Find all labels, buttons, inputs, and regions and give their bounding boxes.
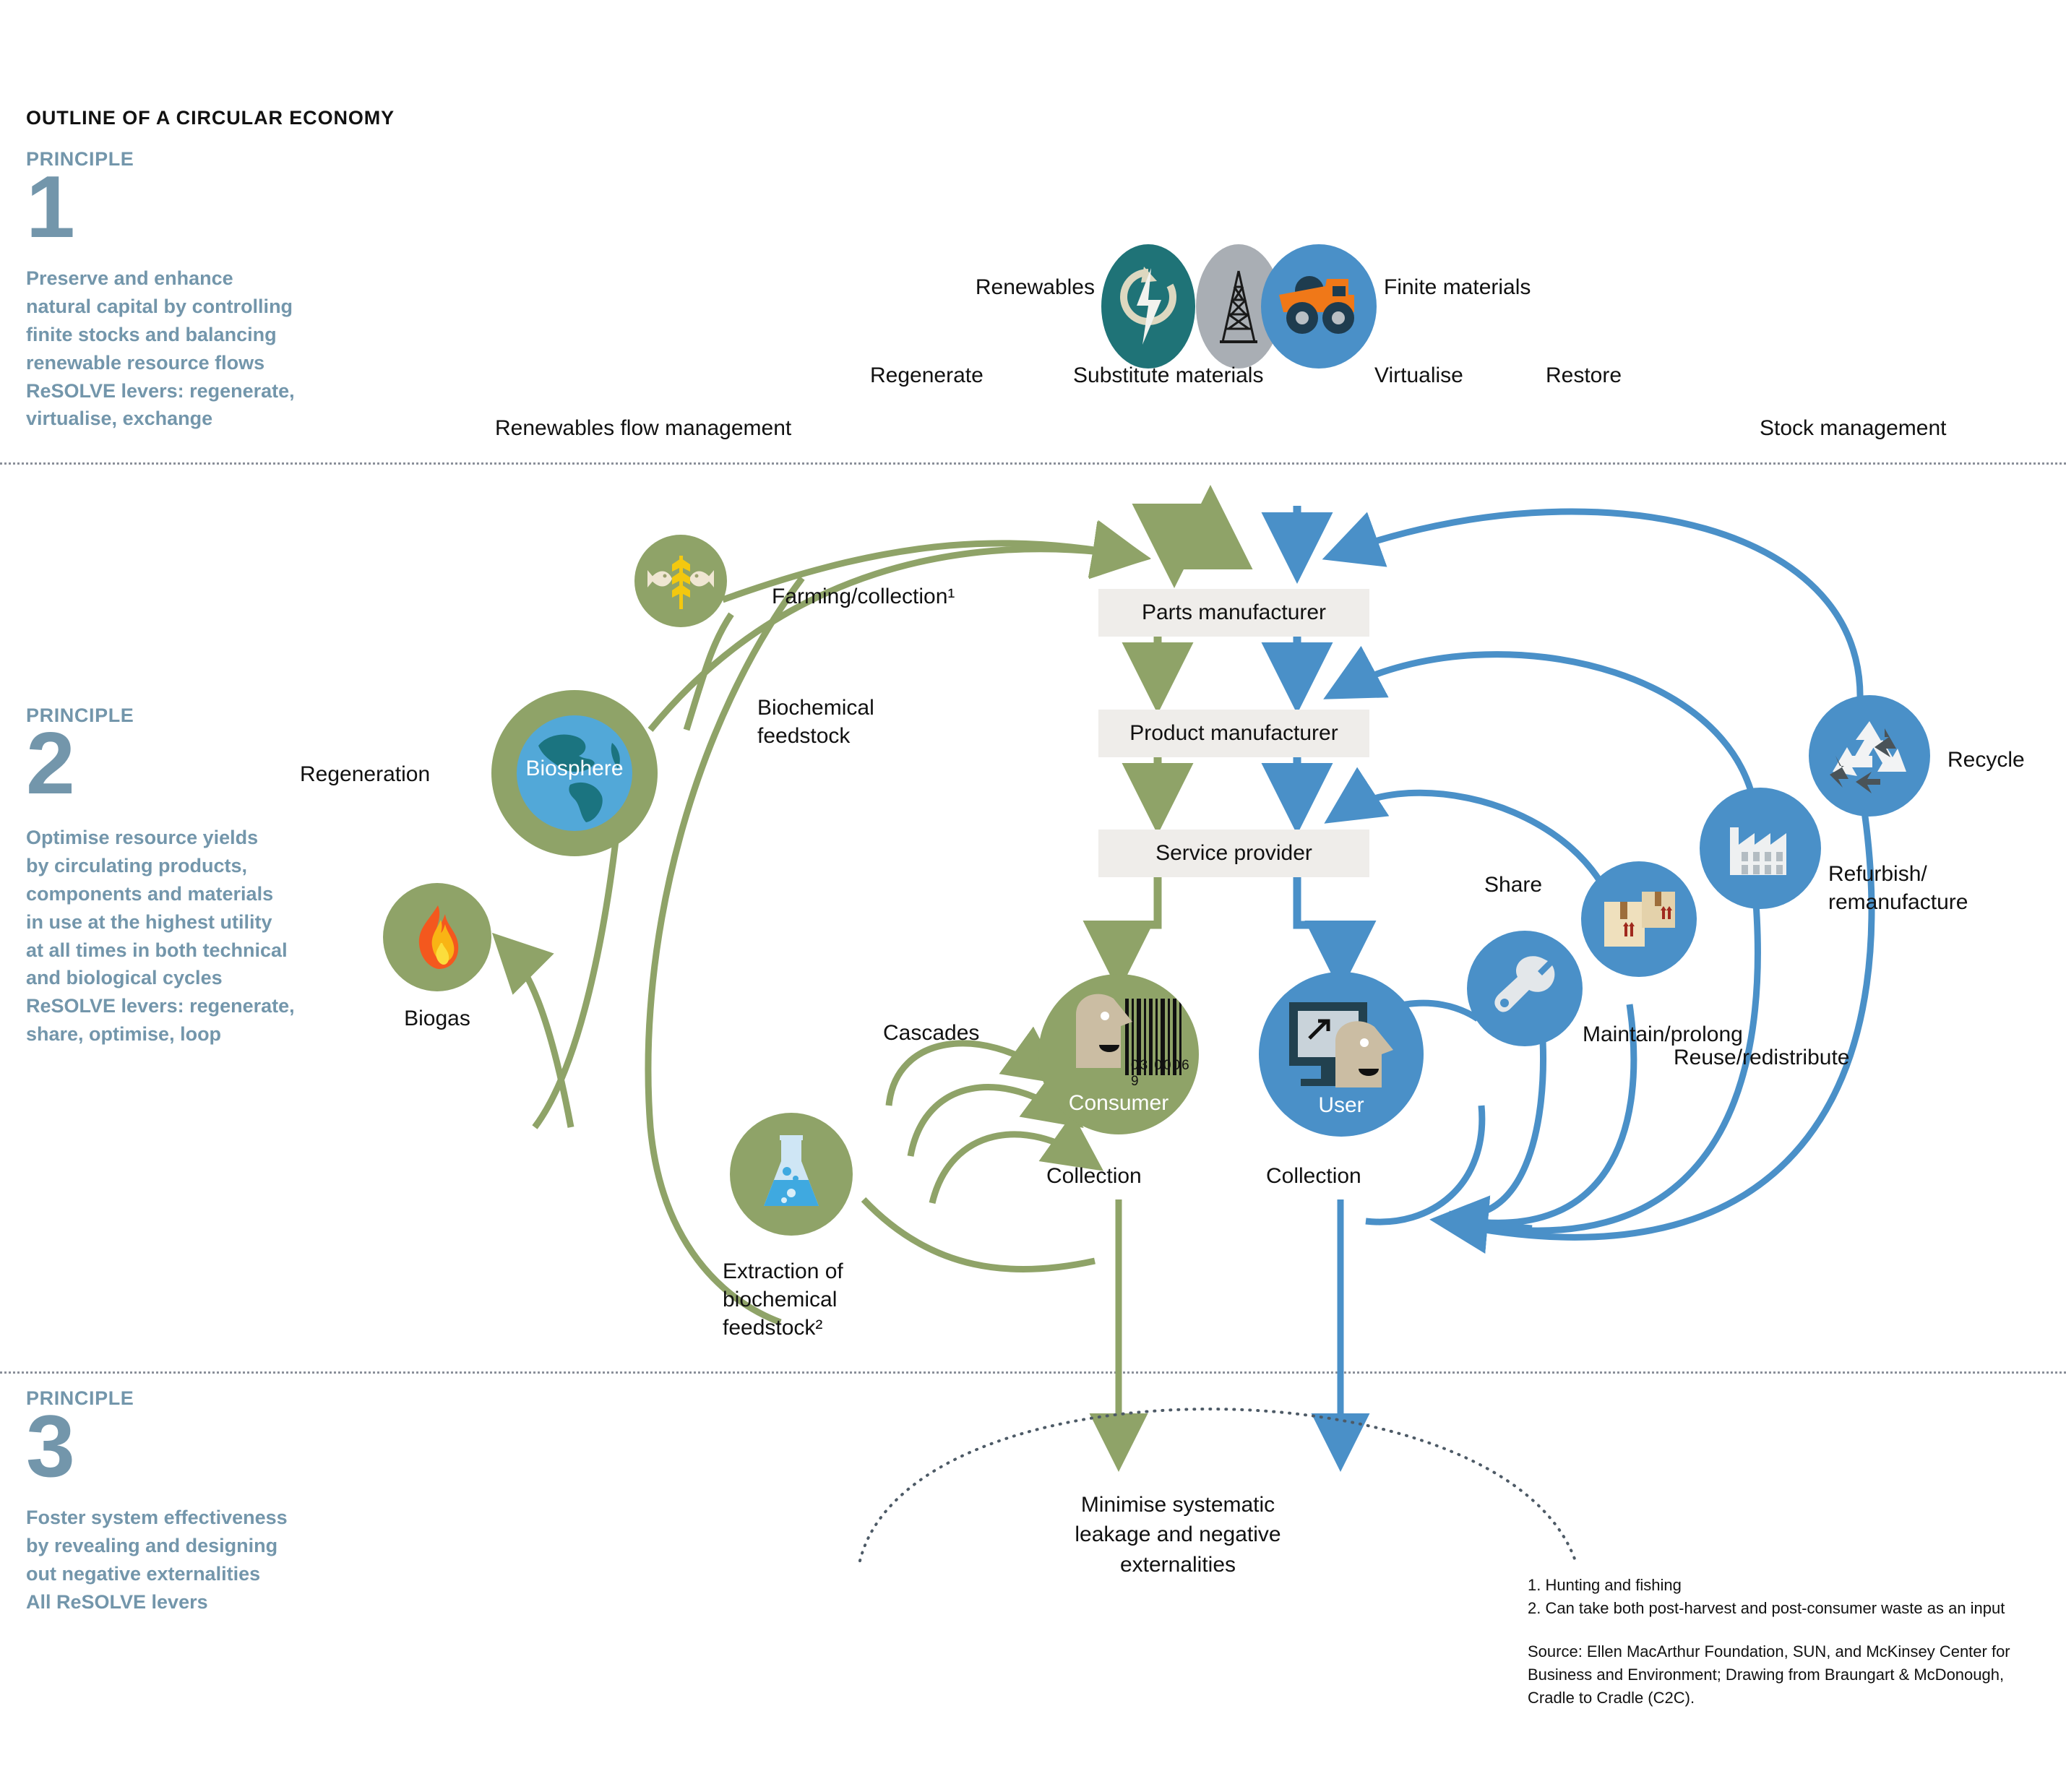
user-label: User — [1259, 1093, 1424, 1118]
box-parts-manufacturer-label: Parts manufacturer — [1142, 600, 1326, 625]
box-product-manufacturer-label: Product manufacturer — [1129, 721, 1338, 746]
footnotes: 1. Hunting and fishing 2. Can take both … — [1528, 1574, 2033, 1620]
refurbish-remanufacture-label: Refurbish/ remanufacture — [1828, 860, 1968, 916]
biosphere-caption: Biosphere — [491, 757, 658, 781]
box-service-provider[interactable]: Service provider — [1098, 830, 1369, 877]
share-wrench-icon[interactable] — [1467, 931, 1583, 1046]
biochemical-feedstock-label: Biochemical feedstock — [757, 694, 874, 750]
share-label: Share — [1484, 871, 1542, 899]
recycle-label: Recycle — [1947, 746, 2025, 774]
biogas-label: Biogas — [383, 1004, 491, 1033]
biogas-icon[interactable] — [383, 883, 491, 991]
consumer-label: Consumer — [1038, 1091, 1199, 1116]
consumer-node[interactable]: 03 0006 9 Consumer — [1038, 974, 1199, 1134]
consumer-collection-label: Collection — [1046, 1162, 1142, 1190]
farming-collection-icon[interactable] — [634, 535, 727, 627]
recycle-icon[interactable] — [1809, 695, 1930, 817]
box-service-provider-label: Service provider — [1155, 841, 1312, 866]
source-note: Source: Ellen MacArthur Foundation, SUN,… — [1528, 1640, 2062, 1710]
maintain-prolong-label: Maintain/prolong — [1583, 1020, 1743, 1048]
cascades-label: Cascades — [883, 1019, 979, 1047]
reuse-redistribute-icon[interactable] — [1581, 861, 1697, 977]
regeneration-label: Regeneration — [300, 760, 430, 788]
user-collection-label: Collection — [1266, 1162, 1361, 1190]
farming-collection-label: Farming/collection¹ — [772, 582, 955, 611]
box-parts-manufacturer[interactable]: Parts manufacturer — [1098, 589, 1369, 637]
user-node[interactable]: User — [1259, 972, 1424, 1137]
barcode-digits: 03 0006 9 — [1131, 1058, 1199, 1090]
leakage-label: Minimise systematic leakage and negative… — [1019, 1490, 1337, 1580]
refurbish-factory-icon[interactable] — [1700, 788, 1821, 909]
extraction-label: Extraction of biochemical feedstock² — [723, 1257, 843, 1342]
box-product-manufacturer[interactable]: Product manufacturer — [1098, 710, 1369, 757]
extraction-flask-icon[interactable] — [730, 1113, 853, 1236]
